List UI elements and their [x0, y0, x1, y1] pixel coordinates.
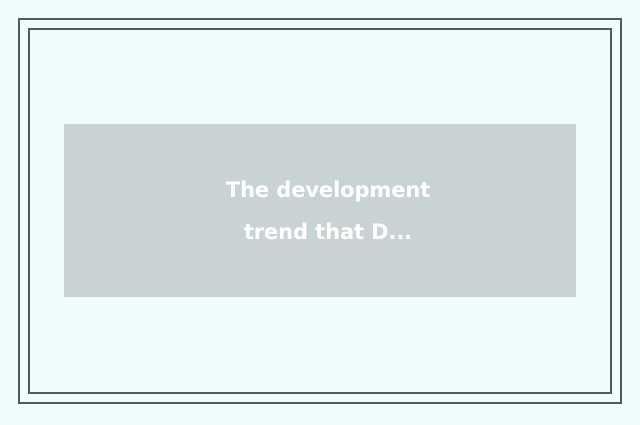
placeholder-caption-line-1: The development: [80, 169, 576, 211]
placeholder-caption-line-2: trend that D...: [80, 211, 576, 253]
content-area: The development trend that D...: [30, 30, 610, 392]
placeholder-caption: The development trend that D...: [64, 169, 576, 253]
image-placeholder-block[interactable]: The development trend that D...: [64, 124, 576, 297]
